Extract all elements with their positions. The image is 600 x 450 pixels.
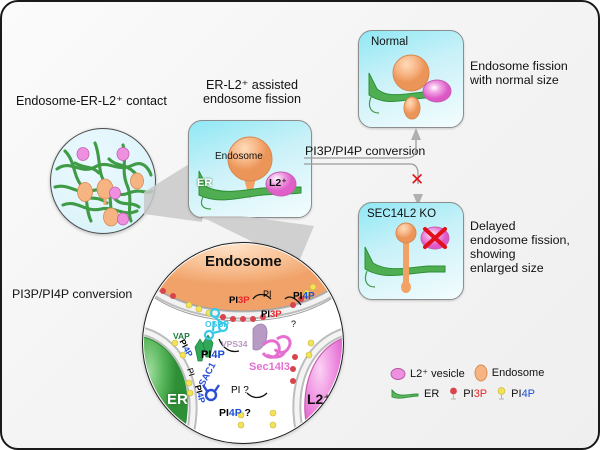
mid-panel-title: ER-L2⁺ assisted endosome fission bbox=[193, 78, 311, 106]
er-icon bbox=[390, 388, 420, 400]
osbp-label: OSBP bbox=[205, 319, 229, 329]
vps34-protein-icon bbox=[253, 324, 267, 350]
anno-left-pi4p: PI4P bbox=[201, 349, 225, 361]
legend-label-pi3p: PI3P bbox=[463, 388, 487, 400]
ko-panel-title: SEC14L2 KO bbox=[367, 208, 436, 220]
ko-l2-blocked-icon bbox=[421, 227, 449, 249]
inset-endosome-label: Endosome bbox=[205, 253, 282, 270]
normal-panel: Normal bbox=[358, 30, 464, 128]
conversion-label-inset: PI3P/PI4P conversion bbox=[12, 288, 132, 302]
inset-er-body bbox=[142, 335, 187, 444]
sec14l2-ko-panel: SEC14L2 KO bbox=[358, 202, 464, 300]
pi3p-dot-icon bbox=[448, 387, 459, 401]
anno-endosome-pi3p: PI3P bbox=[229, 295, 250, 306]
panel-endosome-label: Endosome bbox=[215, 151, 263, 162]
endosome-icon bbox=[474, 364, 488, 382]
legend-row-vesicles: L2⁺ vesicle Endosome bbox=[390, 364, 544, 382]
anno-endosome-pi: PI bbox=[263, 289, 272, 299]
legend: L2⁺ vesicle Endosome ER PI3P PI4P bbox=[390, 364, 544, 406]
l2-vesicle-icon bbox=[390, 367, 406, 380]
legend-label-pi4p: PI4P bbox=[511, 388, 535, 400]
anno-bottom-pi4p: PI4P ? bbox=[219, 407, 251, 419]
normal-panel-title: Normal bbox=[371, 36, 408, 48]
legend-label-endosome: Endosome bbox=[492, 367, 545, 379]
contact-title: Endosome-ER-L2⁺ contact bbox=[16, 94, 167, 108]
anno-right-pi3p: PI3P bbox=[261, 309, 282, 320]
pi4p-dot-icon bbox=[496, 387, 507, 401]
ko-caption: Delayed endosome fission, showing enlarg… bbox=[470, 220, 570, 276]
anno-bottom-pi: PI ? bbox=[231, 385, 249, 396]
anno-right-pi4p: PI4P bbox=[293, 291, 315, 302]
panel-l2-label: L2⁺ bbox=[269, 177, 287, 189]
ko-elongated-endosome-icon bbox=[396, 223, 416, 293]
panel-er-label: ER bbox=[197, 177, 212, 189]
er-l2-assisted-fission-panel: ER Endosome L2⁺ bbox=[188, 120, 312, 218]
vps34-label: VPS34 bbox=[221, 339, 247, 349]
blocked-cross-icon: ✕ bbox=[410, 170, 424, 190]
inset-er-label: ER bbox=[167, 391, 188, 408]
normal-endosome-icon bbox=[393, 55, 429, 91]
arrow-up-icon bbox=[411, 128, 421, 140]
normal-daughter-endosome-icon bbox=[404, 97, 420, 119]
anno-right-question: ? bbox=[291, 319, 296, 329]
sec14l3-label: Sec14l3 bbox=[249, 361, 290, 373]
legend-label-l2-vesicle: L2⁺ vesicle bbox=[410, 367, 465, 380]
legend-row-markers: ER PI3P PI4P bbox=[390, 387, 544, 401]
sec14l3-protein-icon bbox=[263, 337, 290, 358]
normal-l2-icon bbox=[423, 80, 451, 102]
figure-canvas: Endosome-ER-L2⁺ contact bbox=[0, 0, 600, 450]
normal-caption: Endosome fission with normal size bbox=[470, 60, 568, 88]
inset-l2-label: L2⁺ bbox=[307, 391, 331, 408]
legend-label-er: ER bbox=[424, 388, 439, 400]
pi-conversion-inset-circle: Endosome ER L2⁺ VAP OSBP VPS34 Sec14l3 S… bbox=[142, 242, 344, 444]
